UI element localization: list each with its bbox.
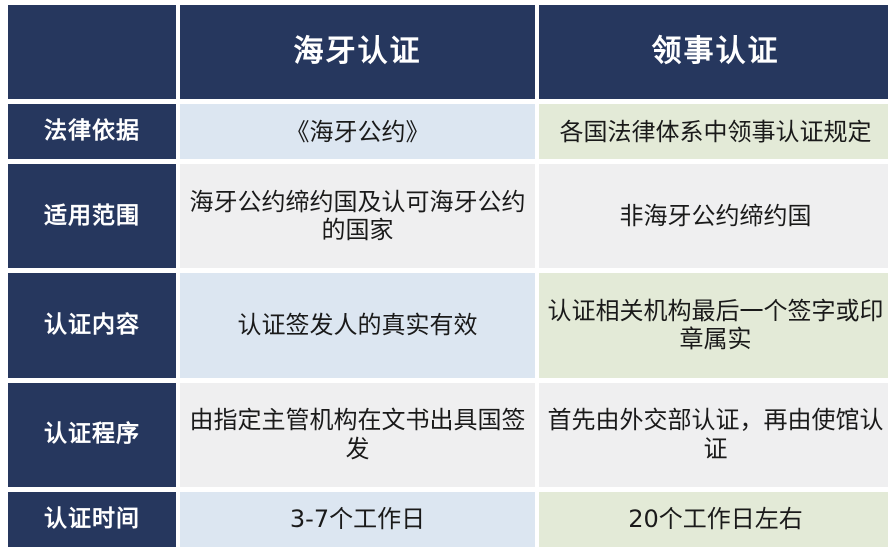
header-cell-hague: 海牙认证: [180, 5, 535, 99]
cell-hague-content: 认证签发人的真实有效: [180, 273, 535, 377]
table-row: 适用范围 海牙公约缔约国及认可海牙公约的国家 非海牙公约缔约国: [8, 164, 888, 268]
cell-consular-scope: 非海牙公约缔约国: [539, 164, 888, 268]
table-row: 法律依据 《海牙公约》 各国法律体系中领事认证规定: [8, 104, 888, 159]
cell-consular-procedure: 首先由外交部认证，再由使馆认证: [539, 383, 888, 487]
table-header: 海牙认证 领事认证: [8, 5, 888, 99]
cell-hague-procedure: 由指定主管机构在文书出具国签发: [180, 383, 535, 487]
table-row: 认证程序 由指定主管机构在文书出具国签发 首先由外交部认证，再由使馆认证: [8, 383, 888, 487]
row-label-content: 认证内容: [8, 273, 176, 377]
cell-consular-legal-basis: 各国法律体系中领事认证规定: [539, 104, 888, 159]
cell-consular-content: 认证相关机构最后一个签字或印章属实: [539, 273, 888, 377]
comparison-table: 海牙认证 领事认证 法律依据 《海牙公约》 各国法律体系中领事认证规定 适用范围…: [4, 0, 888, 552]
cell-consular-duration: 20个工作日左右: [539, 492, 888, 547]
row-label-scope: 适用范围: [8, 164, 176, 268]
table-row: 认证时间 3-7个工作日 20个工作日左右: [8, 492, 888, 547]
cell-hague-legal-basis: 《海牙公约》: [180, 104, 535, 159]
cell-hague-scope: 海牙公约缔约国及认可海牙公约的国家: [180, 164, 535, 268]
header-cell-consular: 领事认证: [539, 5, 888, 99]
row-label-procedure: 认证程序: [8, 383, 176, 487]
table-row: 认证内容 认证签发人的真实有效 认证相关机构最后一个签字或印章属实: [8, 273, 888, 377]
header-cell-corner: [8, 5, 176, 99]
table-body: 法律依据 《海牙公约》 各国法律体系中领事认证规定 适用范围 海牙公约缔约国及认…: [8, 104, 888, 547]
row-label-legal-basis: 法律依据: [8, 104, 176, 159]
header-row: 海牙认证 领事认证: [8, 5, 888, 99]
row-label-duration: 认证时间: [8, 492, 176, 547]
cell-hague-duration: 3-7个工作日: [180, 492, 535, 547]
comparison-table-container: 海牙认证 领事认证 法律依据 《海牙公约》 各国法律体系中领事认证规定 适用范围…: [0, 0, 888, 560]
